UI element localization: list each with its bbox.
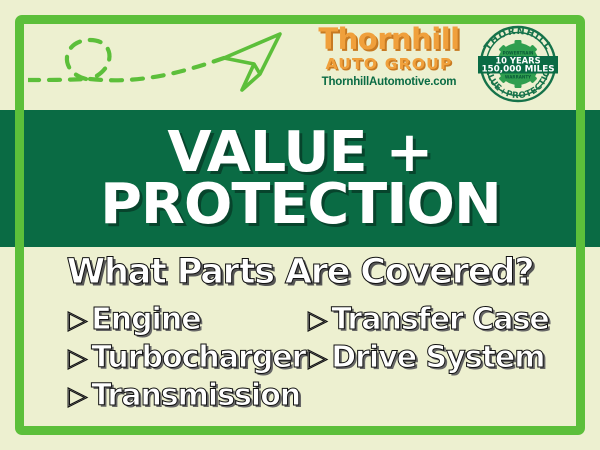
covered-parts-right-column: ▷ Transfer Case ▷ Drive System [308, 302, 549, 378]
coverage-question: What Parts Are Covered? [0, 252, 600, 292]
poster-canvas: Thornhill AUTO GROUP ThornhillAutomotive… [0, 0, 600, 450]
headline-line-1: VALUE + [168, 129, 433, 177]
covered-parts-left-column: ▷ Engine ▷ Turbocharger ▷ Transmission [68, 302, 305, 416]
list-item-label: Drive System [331, 340, 544, 375]
list-item-label: Turbocharger [91, 340, 305, 375]
covered-parts-list: ▷ Engine ▷ Turbocharger ▷ Transmission ▷… [0, 302, 600, 427]
main-headline: VALUE + PROTECTION [0, 112, 600, 246]
brand-logo: Thornhill AUTO GROUP ThornhillAutomotive… [313, 26, 465, 102]
list-item-label: Engine [91, 302, 200, 337]
triangle-bullet-icon: ▷ [308, 346, 327, 371]
list-item: ▷ Turbocharger [68, 340, 305, 378]
badge-warranty-label: WARRANTY [505, 75, 531, 80]
list-item-label: Transfer Case [331, 302, 549, 337]
triangle-bullet-icon: ▷ [68, 384, 87, 409]
list-item-label: Transmission [91, 378, 300, 413]
list-item: ▷ Engine [68, 302, 305, 340]
brand-website-url: ThornhillAutomotive.com [313, 76, 465, 88]
triangle-bullet-icon: ▷ [68, 346, 87, 371]
triangle-bullet-icon: ▷ [308, 308, 327, 333]
badge-banner-line2: 150,000 MILES [481, 65, 554, 75]
brand-logo-subtitle: AUTO GROUP [313, 55, 465, 73]
list-item: ▷ Drive System [308, 340, 549, 378]
list-item: ▷ Transmission [68, 378, 305, 416]
flight-path-decoration [28, 22, 298, 107]
warranty-badge: THORNHILL VALUE+PROTECTION POWERTRAIN WA… [472, 24, 564, 104]
list-item: ▷ Transfer Case [308, 302, 549, 340]
headline-line-2: PROTECTION [100, 181, 501, 229]
brand-logo-wordmark: Thornhill [313, 26, 465, 54]
triangle-bullet-icon: ▷ [68, 308, 87, 333]
